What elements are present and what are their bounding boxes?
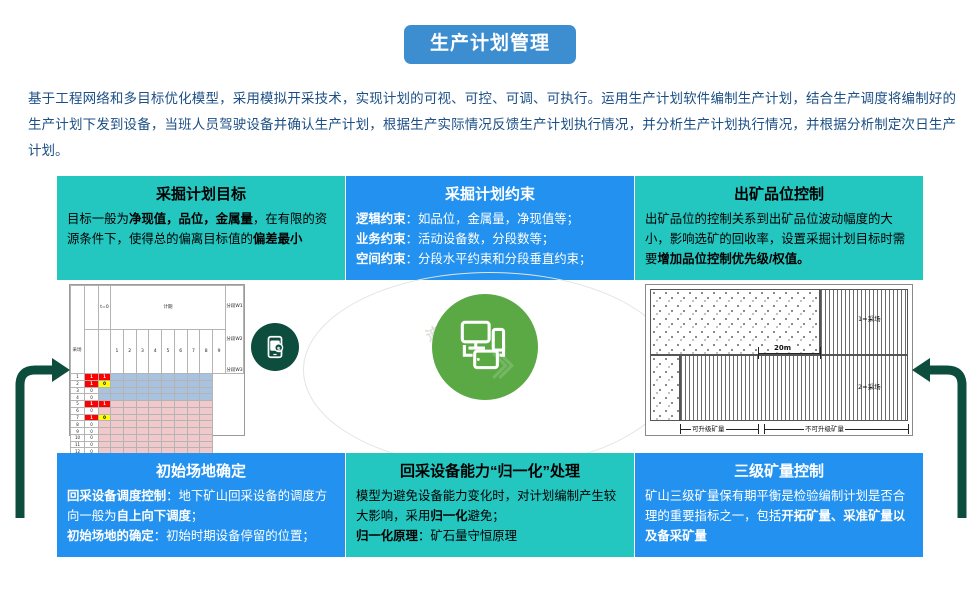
spreadsheet-row-index: 1 xyxy=(71,374,85,381)
label-not-upgradable-reserve: 不可升级矿量 xyxy=(804,423,845,433)
spreadsheet-cell xyxy=(200,428,213,435)
site-bold-dispatch: 自上向下调度 xyxy=(117,509,191,523)
spreadsheet-cell xyxy=(162,441,175,448)
spreadsheet-row-index: 8 xyxy=(71,421,85,428)
spreadsheet-cell xyxy=(136,387,149,394)
spreadsheet-cell xyxy=(162,374,175,381)
norm-label-principle: 归一化原理 xyxy=(356,529,418,543)
spreadsheet-col-1: 1 xyxy=(111,330,124,374)
panel-mining-plan-objective[interactable]: 采掘计划目标 目标一般为净现值，品位，金属量，在有限的资源条件下，使得总的偏离目… xyxy=(57,176,345,280)
constraint-text-spatial: ：分段水平约束和分段垂直约束； xyxy=(406,252,592,266)
bottom-tick-3 xyxy=(764,424,765,434)
spreadsheet-row-index: 11 xyxy=(71,441,85,448)
spreadsheet-col-7: 7 xyxy=(187,330,200,374)
site-text-initial: ：初始时期设备停留的位置； xyxy=(154,529,315,543)
spreadsheet-cell xyxy=(149,394,162,401)
spreadsheet-cell: 0 xyxy=(99,380,111,387)
spreadsheet-cell xyxy=(136,374,149,381)
stope-label-2: 2=采场 xyxy=(858,381,881,391)
bottom-tick-1 xyxy=(680,424,681,434)
spreadsheet-t0-cell: 0 xyxy=(85,387,99,394)
panel-ore-grade-control[interactable]: 出矿品位控制 出矿品位的控制关系到出矿品位波动幅度的大小，影响选矿的回收率，设置… xyxy=(635,176,923,280)
spreadsheet-period-header: 计期 xyxy=(111,286,226,330)
spreadsheet-cell xyxy=(149,380,162,387)
spreadsheet-cell xyxy=(123,428,136,435)
spreadsheet-row: 710 xyxy=(71,414,244,421)
spreadsheet-cell: 1 xyxy=(99,401,111,408)
spreadsheet-cell xyxy=(99,428,111,435)
grade-text-bold: 增加品位控制优先级/权值。 xyxy=(657,252,809,266)
panel-title-mining-plan-constraints: 采掘计划约束 xyxy=(356,184,624,206)
spreadsheet-row: 40 xyxy=(71,394,244,401)
spreadsheet-cell xyxy=(123,380,136,387)
spreadsheet-cell xyxy=(99,441,111,448)
spreadsheet-row-index: 5 xyxy=(71,401,85,408)
diagram-container: 采掘计划目标 目标一般为净现值，品位，金属量，在有限的资源条件下，使得总的偏离目… xyxy=(57,176,923,557)
bottom-tick-4 xyxy=(908,424,909,434)
spreadsheet-t0-cell: 0 xyxy=(85,428,99,435)
rock-texture-upper xyxy=(650,289,820,355)
spreadsheet-cell xyxy=(99,434,111,441)
spreadsheet-cell xyxy=(162,407,175,414)
spreadsheet-cell xyxy=(200,407,213,414)
spreadsheet-cell xyxy=(187,394,200,401)
spreadsheet-group-label-2: 分段W2 xyxy=(226,337,243,342)
norm-text-principle: ：矿石量守恒原理 xyxy=(418,529,517,543)
spreadsheet-rowindex-corner xyxy=(85,330,99,374)
spreadsheet-row-axis-label: 采场 xyxy=(72,347,82,352)
spreadsheet-row-index: 4 xyxy=(71,394,85,401)
spreadsheet-cell xyxy=(162,428,175,435)
intro-paragraph-container: 基于工程网络和多目标优化模型，采用模拟开采技术，实现计划的可视、可控、可调、可执… xyxy=(28,86,956,164)
site-tail-dispatch: ； xyxy=(191,509,203,523)
spreadsheet-cell xyxy=(149,421,162,428)
spreadsheet-cell xyxy=(162,394,175,401)
panel-title-three-level-reserve-control: 三级矿量控制 xyxy=(645,461,913,483)
spreadsheet-t0-cell: 1 xyxy=(85,380,99,387)
spreadsheet-cell xyxy=(187,414,200,421)
spreadsheet-cell xyxy=(123,394,136,401)
spreadsheet-cell xyxy=(136,421,149,428)
right-loop-arrow-icon xyxy=(912,330,972,520)
spreadsheet-cell xyxy=(149,374,162,381)
spreadsheet-cell xyxy=(174,401,187,408)
spreadsheet-cell xyxy=(111,407,124,414)
spreadsheet-cell xyxy=(200,434,213,441)
mining-section-diagram-image: 20m 1=采场 2=采场 可升级矿量 不可升级矿量 xyxy=(645,284,913,436)
label-upgradable-reserve: 可升级矿量 xyxy=(691,423,726,433)
spreadsheet-cell xyxy=(200,414,213,421)
spreadsheet-cell xyxy=(187,434,200,441)
spreadsheet-cell xyxy=(174,421,187,428)
panel-body-mining-plan-constraints: 逻辑约束：如品位，金属量，净现值等； 业务约束：活动设备数，分段数等； 空间约束… xyxy=(356,209,624,269)
spreadsheet-row-index: 3 xyxy=(71,387,85,394)
spreadsheet-cell xyxy=(200,374,213,381)
spreadsheet-cell xyxy=(149,414,162,421)
constraint-label-spatial: 空间约束 xyxy=(356,252,406,266)
panel-body-mining-plan-objective: 目标一般为净现值，品位，金属量，在有限的资源条件下，使得总的偏离目标值的偏差最小 xyxy=(67,209,335,249)
site-row-dispatch: 回采设备调度控制：地下矿山回采设备的调度方向一般为自上向下调度； xyxy=(67,486,335,526)
spreadsheet-t0-cell: 1 xyxy=(85,414,99,421)
spreadsheet-cell xyxy=(123,434,136,441)
page-title-container: 生产计划管理 xyxy=(0,25,980,64)
spreadsheet-cell xyxy=(174,414,187,421)
spreadsheet-cell xyxy=(187,401,200,408)
panel-body-equipment-normalization: 模型为避免设备能力变化时，对计划编制产生较大影响，采用归一化避免； 归一化原理：… xyxy=(356,486,624,546)
spreadsheet-cell xyxy=(123,414,136,421)
spreadsheet-col-3: 3 xyxy=(136,330,149,374)
constraint-row-spatial: 空间约束：分段水平约束和分段垂直约束； xyxy=(356,249,624,269)
panel-body-three-level-reserve-control: 矿山三级矿量保有期平衡是检验编制计划是否合理的重要指标之一，包括开拓矿量、采准矿… xyxy=(645,486,913,546)
spreadsheet-cell xyxy=(174,434,187,441)
spreadsheet-cell xyxy=(136,441,149,448)
spreadsheet-cell xyxy=(111,394,124,401)
spreadsheet-cell xyxy=(162,380,175,387)
objective-text-bold2: 偏差最小 xyxy=(253,232,303,246)
spreadsheet-row: 60 xyxy=(71,407,244,414)
constraint-label-logical: 逻辑约束 xyxy=(356,212,406,226)
spreadsheet-cell xyxy=(174,428,187,435)
spreadsheet-cell xyxy=(174,394,187,401)
objective-text-prefix: 目标一般为 xyxy=(67,212,129,226)
spreadsheet-cell xyxy=(162,434,175,441)
spreadsheet-cell xyxy=(187,387,200,394)
spreadsheet-cell xyxy=(187,407,200,414)
spreadsheet-cell xyxy=(99,407,111,414)
spreadsheet-cell xyxy=(123,407,136,414)
spreadsheet-header-row: t=0 计期 分段W1 分段W2 分段W3 xyxy=(71,286,244,330)
spreadsheet-cell xyxy=(162,401,175,408)
page-title: 生产计划管理 xyxy=(404,25,576,64)
spreadsheet-t0-cell: 0 xyxy=(85,407,99,414)
spreadsheet-cell xyxy=(99,421,111,428)
panel-title-ore-grade-control: 出矿品位控制 xyxy=(645,184,913,206)
spreadsheet-cell xyxy=(111,387,124,394)
spreadsheet-cell xyxy=(200,441,213,448)
spreadsheet-row: 110 xyxy=(71,441,244,448)
spreadsheet-row-index: 2 xyxy=(71,380,85,387)
norm-text-tail: 避免； xyxy=(468,509,505,523)
spreadsheet-cell xyxy=(174,407,187,414)
spreadsheet-cell xyxy=(111,428,124,435)
panel-mining-plan-constraints[interactable]: 采掘计划约束 逻辑约束：如品位，金属量，净现值等； 业务约束：活动设备数，分段数… xyxy=(346,176,634,280)
panel-body-initial-site-determination: 回采设备调度控制：地下矿山回采设备的调度方向一般为自上向下调度； 初始场地的确定… xyxy=(67,486,335,546)
spreadsheet-cell xyxy=(111,421,124,428)
bottom-tick-2 xyxy=(758,424,759,434)
spreadsheet-cell xyxy=(187,421,200,428)
spreadsheet-column-index-row: 1 2 3 4 5 6 7 8 9 xyxy=(71,330,244,374)
spreadsheet-cell xyxy=(187,428,200,435)
spreadsheet-cell xyxy=(111,374,124,381)
mobile-payment-icon[interactable]: $ xyxy=(251,323,299,371)
spreadsheet-cell xyxy=(111,380,124,387)
panel-three-level-reserve-control[interactable]: 三级矿量控制 矿山三级矿量保有期平衡是检验编制计划是否合理的重要指标之一，包括开… xyxy=(635,453,923,557)
panel-equipment-normalization[interactable]: 回采设备能力“归一化”处理 模型为避免设备能力变化时，对计划编制产生较大影响，采… xyxy=(346,453,634,557)
panel-initial-site-determination[interactable]: 初始场地确定 回采设备调度控制：地下矿山回采设备的调度方向一般为自上向下调度； … xyxy=(57,453,345,557)
spreadsheet-cell xyxy=(136,434,149,441)
spreadsheet-cell xyxy=(123,441,136,448)
spreadsheet-axis-cell xyxy=(71,286,85,374)
spreadsheet-cell xyxy=(111,401,124,408)
spreadsheet-cell xyxy=(136,380,149,387)
spreadsheet-t0-cell: 0 xyxy=(85,434,99,441)
spreadsheet-col-5: 5 xyxy=(162,330,175,374)
spreadsheet-row: 511 xyxy=(71,401,244,408)
spreadsheet-cell: 0 xyxy=(99,414,111,421)
spreadsheet-cell xyxy=(123,421,136,428)
norm-row-main: 模型为避免设备能力变化时，对计划编制产生较大影响，采用归一化避免； xyxy=(356,486,624,526)
spreadsheet-cell xyxy=(149,441,162,448)
spreadsheet-cell xyxy=(99,394,111,401)
spreadsheet-row: 111 xyxy=(71,374,244,381)
spreadsheet-row: 80 xyxy=(71,421,244,428)
spreadsheet-t0-cell: 1 xyxy=(85,401,99,408)
spreadsheet-cell xyxy=(111,434,124,441)
spreadsheet-cell xyxy=(187,374,200,381)
constraint-text-business: ：活动设备数，分段数等； xyxy=(406,232,555,246)
dimension-tick-left xyxy=(758,347,759,359)
norm-row-principle: 归一化原理：矿石量守恒原理 xyxy=(356,526,624,546)
constraint-label-business: 业务约束 xyxy=(356,232,406,246)
spreadsheet-cell xyxy=(162,414,175,421)
spreadsheet-cell xyxy=(174,387,187,394)
spreadsheet-col-9: 9 xyxy=(213,330,226,374)
objective-text-bold1: 净现值，品位，金属量 xyxy=(129,212,253,226)
spreadsheet-cell xyxy=(123,401,136,408)
spreadsheet-cell xyxy=(174,380,187,387)
constraint-text-logical: ：如品位，金属量，净现值等； xyxy=(406,212,579,226)
spreadsheet-t0-cell: 0 xyxy=(85,421,99,428)
spreadsheet-cell xyxy=(136,394,149,401)
panel-title-equipment-normalization: 回采设备能力“归一化”处理 xyxy=(356,461,624,483)
spreadsheet-t0-header: t=0 xyxy=(99,286,111,330)
spreadsheet-cell xyxy=(187,380,200,387)
spreadsheet-cell xyxy=(111,441,124,448)
spreadsheet-corner-cell xyxy=(85,286,99,330)
spreadsheet-cell xyxy=(123,374,136,381)
spreadsheet-cell xyxy=(136,401,149,408)
svg-text:$: $ xyxy=(277,346,281,352)
spreadsheet-cell xyxy=(200,394,213,401)
spreadsheet-col-4: 4 xyxy=(149,330,162,374)
spreadsheet-cell xyxy=(162,421,175,428)
left-loop-arrow-icon xyxy=(10,330,70,520)
connected-devices-icon[interactable] xyxy=(432,294,538,400)
spreadsheet-t0-blank xyxy=(99,330,111,374)
spreadsheet-cell xyxy=(149,434,162,441)
spreadsheet-cell xyxy=(136,407,149,414)
panel-title-mining-plan-objective: 采掘计划目标 xyxy=(67,184,335,206)
spreadsheet-row: 210 xyxy=(71,380,244,387)
spreadsheet-cell xyxy=(149,428,162,435)
spreadsheet-col-8: 8 xyxy=(200,330,213,374)
spreadsheet-cell xyxy=(136,414,149,421)
spreadsheet-cell xyxy=(162,387,175,394)
spreadsheet-row-index: 9 xyxy=(71,428,85,435)
spreadsheet-cell: 1 xyxy=(99,374,111,381)
spreadsheet-t0-cell: 0 xyxy=(85,441,99,448)
spreadsheet-cell xyxy=(200,380,213,387)
spreadsheet-cell xyxy=(149,407,162,414)
spreadsheet-row-index: 7 xyxy=(71,414,85,421)
spreadsheet-cell xyxy=(187,441,200,448)
spreadsheet-cell xyxy=(200,387,213,394)
spreadsheet-cell xyxy=(111,414,124,421)
schedule-spreadsheet-image: 采场 t=0 计期 分段W1 分段W2 分段W3 xyxy=(69,284,245,436)
constraint-row-business: 业务约束：活动设备数，分段数等； xyxy=(356,229,624,249)
panel-body-ore-grade-control: 出矿品位的控制关系到出矿品位波动幅度的大小，影响选矿的回收率，设置采掘计划目标时… xyxy=(645,209,913,269)
spreadsheet-cell xyxy=(149,387,162,394)
spreadsheet-col-2: 2 xyxy=(123,330,136,374)
site-row-initial: 初始场地的确定：初始时期设备停留的位置； xyxy=(67,526,335,546)
middle-illustration-area: 迪迈科技 采场 t=0 计期 分段W1 分段W2 分段W3 xyxy=(57,281,923,452)
spreadsheet-cell xyxy=(200,401,213,408)
spreadsheet-cell xyxy=(136,428,149,435)
panel-title-initial-site-determination: 初始场地确定 xyxy=(67,461,335,483)
spreadsheet-group-label-1: 分段W1 xyxy=(226,304,243,309)
spreadsheet-cell xyxy=(99,387,111,394)
spreadsheet-cell xyxy=(149,401,162,408)
spreadsheet-row: 90 xyxy=(71,428,244,435)
spreadsheet-group-label-3: 分段W3 xyxy=(226,368,243,373)
spreadsheet-t0-cell: 0 xyxy=(85,394,99,401)
spreadsheet-row-index: 6 xyxy=(71,407,85,414)
spreadsheet-col-6: 6 xyxy=(174,330,187,374)
spreadsheet-row-index: 10 xyxy=(71,434,85,441)
dimension-label-20m: 20m xyxy=(772,344,793,352)
dimension-line-20m xyxy=(758,353,820,354)
spreadsheet-row: 100 xyxy=(71,434,244,441)
constraint-row-logical: 逻辑约束：如品位，金属量，净现值等； xyxy=(356,209,624,229)
spreadsheet-t0-cell: 1 xyxy=(85,374,99,381)
page-root: 生产计划管理 基于工程网络和多目标优化模型，采用模拟开采技术，实现计划的可视、可… xyxy=(0,0,980,591)
spreadsheet-cell xyxy=(174,441,187,448)
dimension-tick-right xyxy=(820,347,821,359)
rock-texture-left xyxy=(650,355,680,421)
spreadsheet-row: 30 xyxy=(71,387,244,394)
site-label-dispatch: 回采设备调度控制 xyxy=(67,489,166,503)
spreadsheet-cell xyxy=(174,374,187,381)
stope-label-1: 1=采场 xyxy=(858,313,881,323)
site-label-initial: 初始场地的确定 xyxy=(67,529,154,543)
spreadsheet-cell xyxy=(123,387,136,394)
spreadsheet-cell xyxy=(200,421,213,428)
spreadsheet-group-labels-cell: 分段W1 分段W2 分段W3 xyxy=(226,286,244,374)
intro-paragraph: 基于工程网络和多目标优化模型，采用模拟开采技术，实现计划的可视、可控、可调、可执… xyxy=(28,86,956,164)
norm-text-bold: 归一化 xyxy=(430,509,467,523)
